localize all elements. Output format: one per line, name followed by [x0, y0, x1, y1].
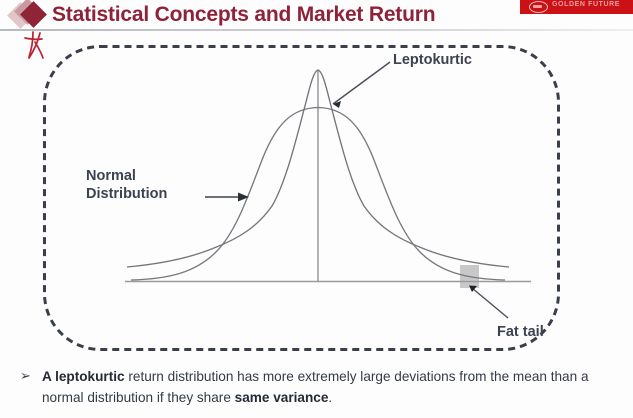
- label-leptokurtic: Leptokurtic: [393, 51, 472, 69]
- bullet-row: ➢ A leptokurtic return distribution has …: [20, 366, 620, 408]
- bullet-arrow-icon: ➢: [20, 366, 42, 386]
- fat-tail-highlight: [460, 265, 479, 288]
- bullet-text-lead: A leptokurtic: [42, 369, 125, 384]
- bullet-text-end: .: [328, 390, 332, 405]
- label-normal-line1: Normal: [86, 167, 167, 185]
- bullet-text: A leptokurtic return distribution has mo…: [42, 366, 620, 408]
- circular-seal-icon: [529, 1, 548, 13]
- bullet-text-bold-tail: same variance: [235, 390, 329, 405]
- label-fat-tail: Fat tail: [497, 323, 544, 341]
- label-normal-line2: Distribution: [86, 185, 167, 203]
- bullet-block: ➢ A leptokurtic return distribution has …: [20, 366, 620, 408]
- brand-logo-text: GOLDEN FUTURE: [552, 1, 620, 8]
- diamond-bullet-icon: [10, 1, 50, 28]
- brand-logo-banner: GOLDEN FUTURE: [520, 0, 633, 14]
- label-normal-distribution: Normal Distribution: [86, 167, 167, 203]
- title-divider: [0, 29, 633, 31]
- page-title: Statistical Concepts and Market Return: [52, 0, 435, 29]
